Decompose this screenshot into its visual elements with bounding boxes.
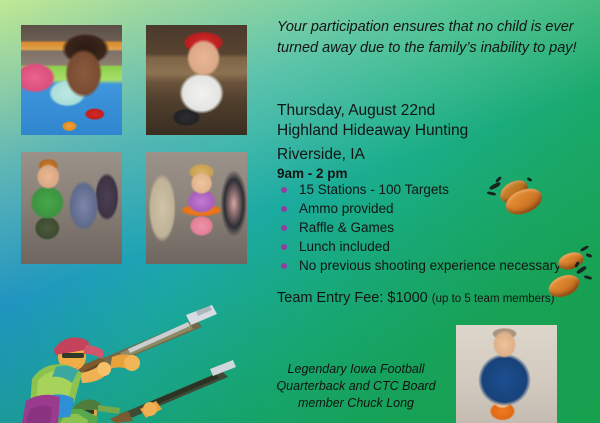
- clay-disc-front: [545, 271, 582, 302]
- clay-shard: [586, 253, 593, 258]
- photo-child-helmet-image: [146, 25, 247, 135]
- photo-chuck-long-image: [456, 325, 557, 423]
- entry-fee-label: Team Entry Fee: $1000: [277, 290, 428, 306]
- event-date: Thursday, August 22nd: [277, 101, 435, 121]
- clay-shard: [527, 177, 533, 182]
- clay-shard: [487, 191, 496, 196]
- photo-child-walker-tray: [146, 152, 247, 264]
- photo-child-toy-car-image: [21, 25, 122, 135]
- clay-target-breaking-1-icon: [487, 176, 559, 228]
- shooter-upper: [22, 305, 217, 423]
- clay-shard: [574, 261, 580, 268]
- event-venue: Highland Hideaway Hunting: [277, 121, 468, 141]
- clay-shard: [580, 245, 589, 252]
- entry-fee: Team Entry Fee: $1000 (up to 5 team memb…: [277, 290, 554, 306]
- list-item: Lunch included: [277, 238, 561, 256]
- intro-statement: Your participation ensures that no child…: [277, 17, 582, 59]
- chuck-long-caption: Legendary Iowa Football Quarterback and …: [258, 361, 454, 412]
- clay-shard: [584, 275, 593, 280]
- photo-child-gait-trainer-image: [21, 152, 122, 264]
- list-item: No previous shooting experience necessar…: [277, 257, 561, 275]
- event-location: Riverside, IA: [277, 145, 365, 165]
- event-flyer: Your participation ensures that no child…: [0, 0, 600, 423]
- photo-child-walker-tray-image: [146, 152, 247, 264]
- photo-child-toy-car: [21, 25, 122, 135]
- photo-child-gait-trainer: [21, 152, 122, 264]
- photo-chuck-long: [456, 325, 557, 423]
- entry-fee-note: (up to 5 team members): [432, 293, 555, 305]
- clay-target-breaking-2-icon: [540, 262, 600, 310]
- clay-shard: [576, 265, 587, 274]
- photo-child-helmet: [146, 25, 247, 135]
- trap-shooters-illustration: [0, 305, 275, 423]
- clay-shard: [489, 181, 501, 190]
